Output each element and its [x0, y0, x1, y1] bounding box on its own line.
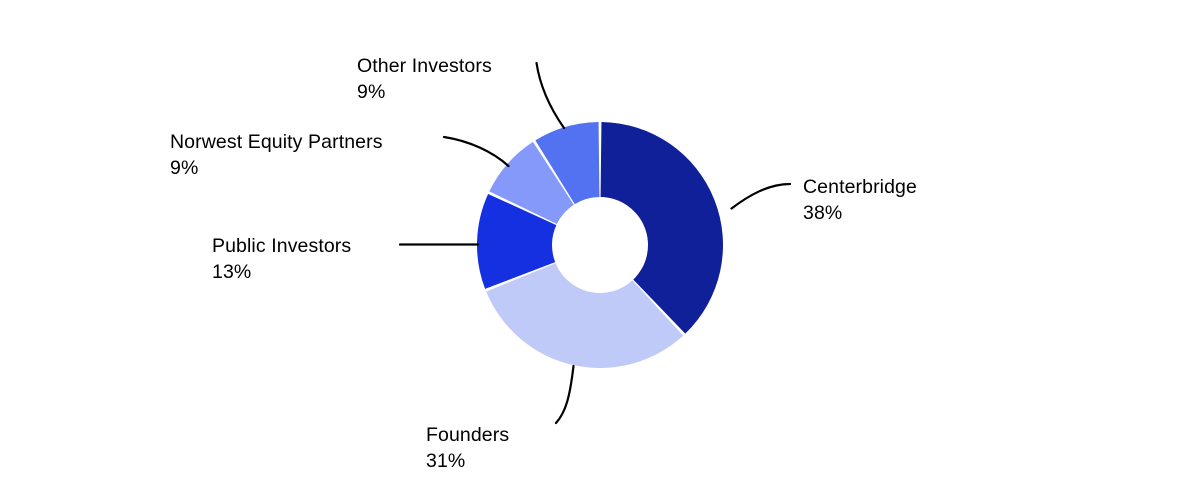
slice-label-centerbridge: Centerbridge 38%: [803, 174, 917, 226]
slice-label-public-investors-value: 13%: [212, 259, 351, 285]
slice-label-other-investors: Other Investors 9%: [357, 53, 492, 105]
slice-label-founders: Founders 31%: [426, 422, 509, 474]
leader-line-centerbridge: [732, 184, 791, 209]
donut-chart-figure: Centerbridge 38%Founders 31%Public Inves…: [0, 0, 1200, 500]
slice-label-norwest-name: Norwest Equity Partners: [170, 129, 383, 155]
donut-slices-group: Centerbridge 38%Founders 31%Public Inves…: [477, 122, 723, 368]
slice-label-norwest: Norwest Equity Partners 9%: [170, 129, 383, 181]
leader-line-founders: [556, 366, 574, 423]
slice-label-founders-value: 31%: [426, 448, 509, 474]
slice-label-other-investors-name: Other Investors: [357, 53, 492, 79]
leader-line-norwest: [444, 137, 509, 166]
donut-chart-svg: Centerbridge 38%Founders 31%Public Inves…: [0, 0, 1200, 500]
slice-label-public-investors-name: Public Investors: [212, 233, 351, 259]
slice-label-centerbridge-value: 38%: [803, 200, 917, 226]
slice-label-founders-name: Founders: [426, 422, 509, 448]
slice-label-public-investors: Public Investors 13%: [212, 233, 351, 285]
slice-label-centerbridge-name: Centerbridge: [803, 174, 917, 200]
slice-label-norwest-value: 9%: [170, 155, 383, 181]
leader-lines-group: [400, 63, 790, 423]
leader-line-other-investors: [537, 63, 565, 128]
slice-label-other-investors-value: 9%: [357, 79, 492, 105]
